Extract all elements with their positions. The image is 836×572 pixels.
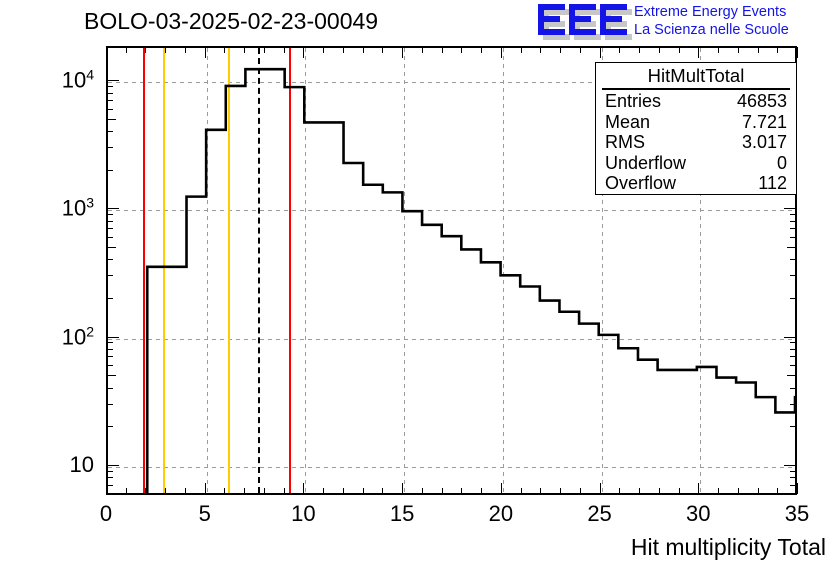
eee-logo-line2: La Scienza nelle Scuole — [634, 21, 789, 39]
stats-value: 46853 — [737, 91, 787, 112]
x-tick-bottom — [521, 488, 522, 494]
x-tick-top — [580, 47, 581, 53]
x-tick-top — [521, 47, 522, 53]
y-tick-right — [790, 237, 796, 238]
y-tick-left — [107, 147, 113, 148]
y-tick-left — [107, 247, 116, 248]
x-tick-bottom — [580, 488, 581, 494]
x-tick-top — [205, 47, 206, 58]
x-tick-top — [363, 47, 364, 53]
x-tick-label: 35 — [785, 501, 809, 527]
y-tick-right — [790, 426, 796, 427]
x-tick-top — [758, 47, 759, 53]
y-tick-left — [107, 208, 119, 209]
x-tick-bottom — [185, 488, 186, 494]
y-tick-left — [107, 237, 113, 238]
x-tick-top — [284, 47, 285, 53]
y-tick-left — [107, 119, 116, 120]
x-tick-bottom — [126, 488, 127, 494]
y-tick-right — [790, 298, 796, 299]
x-tick-top — [501, 47, 502, 58]
y-tick-label: 103 — [0, 195, 94, 222]
x-tick-bottom — [659, 488, 660, 494]
x-tick-bottom — [758, 488, 759, 494]
x-tick-top — [264, 47, 265, 53]
stats-value: 7.721 — [742, 112, 787, 133]
x-tick-top — [540, 47, 541, 53]
x-tick-top — [422, 47, 423, 53]
x-tick-top — [145, 47, 146, 53]
y-tick-right — [790, 221, 796, 222]
y-tick-right — [787, 247, 796, 248]
y-tick-left — [107, 426, 113, 427]
x-tick-top — [323, 47, 324, 53]
x-tick-bottom — [264, 488, 265, 494]
x-tick-top — [718, 47, 719, 53]
y-tick-label: 104 — [0, 67, 94, 94]
y-tick-label: 102 — [0, 323, 94, 350]
stats-row: RMS3.017 — [596, 132, 796, 153]
y-tick-left — [107, 485, 113, 486]
x-tick-top — [126, 47, 127, 53]
y-tick-left — [107, 342, 113, 343]
eee-logo-line1: Extreme Energy Events — [634, 3, 789, 21]
stats-row: Mean7.721 — [596, 112, 796, 133]
stats-value: 3.017 — [742, 132, 787, 153]
eee-letter-1 — [538, 4, 565, 35]
stats-key: Underflow — [605, 153, 686, 174]
y-tick-left — [107, 275, 113, 276]
x-tick-top — [679, 47, 680, 53]
x-tick-bottom — [777, 488, 778, 494]
x-tick-top — [106, 47, 107, 58]
y-tick-right — [790, 356, 796, 357]
x-tick-bottom — [422, 488, 423, 494]
x-tick-top — [698, 47, 699, 58]
x-tick-top — [442, 47, 443, 53]
eee-logo-text: Extreme Energy Events La Scienza nelle S… — [634, 3, 789, 39]
eee-logo-mark — [538, 2, 630, 38]
x-tick-bottom — [481, 488, 482, 494]
page-title: BOLO-03-2025-02-23-00049 — [84, 8, 378, 35]
stats-key: Entries — [605, 91, 661, 112]
y-tick-right — [790, 228, 796, 229]
y-tick-left — [107, 170, 113, 171]
x-axis-title: Hit multiplicity Total — [631, 534, 826, 561]
y-tick-left — [107, 365, 113, 366]
x-tick-top — [224, 47, 225, 53]
y-tick-left — [107, 388, 113, 389]
x-tick-top — [659, 47, 660, 53]
y-tick-left — [107, 259, 113, 260]
y-tick-right — [790, 477, 796, 478]
y-tick-right — [790, 342, 796, 343]
y-tick-right — [790, 404, 796, 405]
y-tick-right — [790, 349, 796, 350]
x-tick-bottom — [461, 488, 462, 494]
stats-row: Entries46853 — [596, 91, 796, 112]
stats-row: Underflow0 — [596, 153, 796, 174]
x-tick-bottom — [343, 488, 344, 494]
x-tick-bottom — [303, 483, 304, 494]
y-tick-right — [790, 471, 796, 472]
x-tick-top — [797, 47, 798, 58]
y-tick-left — [107, 477, 113, 478]
x-tick-top — [639, 47, 640, 53]
x-tick-top — [343, 47, 344, 53]
y-tick-left — [107, 100, 113, 101]
x-tick-bottom — [639, 488, 640, 494]
y-tick-right — [787, 375, 796, 376]
x-tick-bottom — [382, 488, 383, 494]
x-tick-top — [600, 47, 601, 58]
stats-key: RMS — [605, 132, 645, 153]
eee-letter-2 — [569, 4, 596, 35]
stats-rows: Entries46853Mean7.721RMS3.017Underflow0O… — [596, 91, 796, 194]
x-tick-top — [382, 47, 383, 53]
y-tick-right — [790, 275, 796, 276]
x-tick-bottom — [600, 483, 601, 494]
x-tick-bottom — [718, 488, 719, 494]
x-tick-bottom — [205, 483, 206, 494]
x-tick-bottom — [560, 488, 561, 494]
x-tick-top — [738, 47, 739, 53]
y-tick-left — [107, 214, 113, 215]
x-tick-top — [481, 47, 482, 53]
stats-key: Overflow — [605, 173, 676, 194]
stats-value: 112 — [758, 173, 787, 194]
x-tick-bottom — [501, 483, 502, 494]
y-tick-left — [107, 109, 113, 110]
x-tick-bottom — [363, 488, 364, 494]
stats-title: HitMultTotal — [602, 63, 790, 90]
x-tick-bottom — [540, 488, 541, 494]
y-tick-left — [107, 221, 113, 222]
x-tick-label: 5 — [199, 501, 211, 527]
x-tick-label: 20 — [489, 501, 513, 527]
x-tick-label: 15 — [390, 501, 414, 527]
x-tick-bottom — [442, 488, 443, 494]
x-tick-bottom — [145, 488, 146, 494]
y-tick-right — [790, 259, 796, 260]
y-tick-left — [107, 404, 113, 405]
x-tick-top — [185, 47, 186, 53]
y-tick-left — [107, 471, 113, 472]
x-tick-label: 30 — [686, 501, 710, 527]
x-tick-label: 0 — [100, 501, 112, 527]
y-tick-right — [790, 485, 796, 486]
y-tick-label: 10 — [0, 452, 94, 478]
y-tick-left — [107, 349, 113, 350]
root-canvas: BOLO-03-2025-02-23-00049 Extreme E — [0, 0, 836, 572]
x-tick-top — [619, 47, 620, 53]
y-tick-left — [107, 80, 119, 81]
stats-row: Overflow112 — [596, 173, 796, 194]
x-tick-top — [165, 47, 166, 53]
y-tick-left — [107, 465, 119, 466]
y-tick-left — [107, 375, 116, 376]
y-tick-left — [107, 228, 113, 229]
x-tick-top — [461, 47, 462, 53]
y-tick-right — [784, 208, 796, 209]
x-tick-bottom — [244, 488, 245, 494]
x-tick-bottom — [698, 483, 699, 494]
y-tick-right — [790, 493, 796, 494]
stats-box[interactable]: HitMultTotal Entries46853Mean7.721RMS3.0… — [595, 62, 797, 195]
x-tick-top — [560, 47, 561, 53]
x-tick-bottom — [797, 483, 798, 494]
x-tick-bottom — [284, 488, 285, 494]
y-tick-left — [107, 356, 113, 357]
y-tick-left — [107, 93, 113, 94]
stats-value: 0 — [777, 153, 787, 174]
y-tick-left — [107, 298, 113, 299]
x-tick-top — [244, 47, 245, 53]
stats-key: Mean — [605, 112, 650, 133]
x-tick-top — [402, 47, 403, 58]
y-tick-left — [107, 86, 113, 87]
y-tick-right — [784, 465, 796, 466]
x-tick-bottom — [165, 488, 166, 494]
y-tick-right — [790, 214, 796, 215]
eee-letter-3 — [600, 4, 627, 35]
y-tick-right — [790, 388, 796, 389]
x-tick-top — [303, 47, 304, 58]
x-tick-bottom — [323, 488, 324, 494]
y-tick-left — [107, 493, 113, 494]
y-tick-left — [107, 337, 119, 338]
y-tick-right — [784, 337, 796, 338]
x-tick-bottom — [619, 488, 620, 494]
x-tick-bottom — [738, 488, 739, 494]
x-tick-bottom — [679, 488, 680, 494]
x-tick-top — [777, 47, 778, 53]
eee-logo: Extreme Energy Events La Scienza nelle S… — [538, 2, 834, 42]
y-tick-right — [790, 365, 796, 366]
x-tick-bottom — [224, 488, 225, 494]
y-tick-left — [107, 131, 113, 132]
x-tick-bottom — [402, 483, 403, 494]
x-tick-label: 25 — [587, 501, 611, 527]
x-tick-label: 10 — [291, 501, 315, 527]
